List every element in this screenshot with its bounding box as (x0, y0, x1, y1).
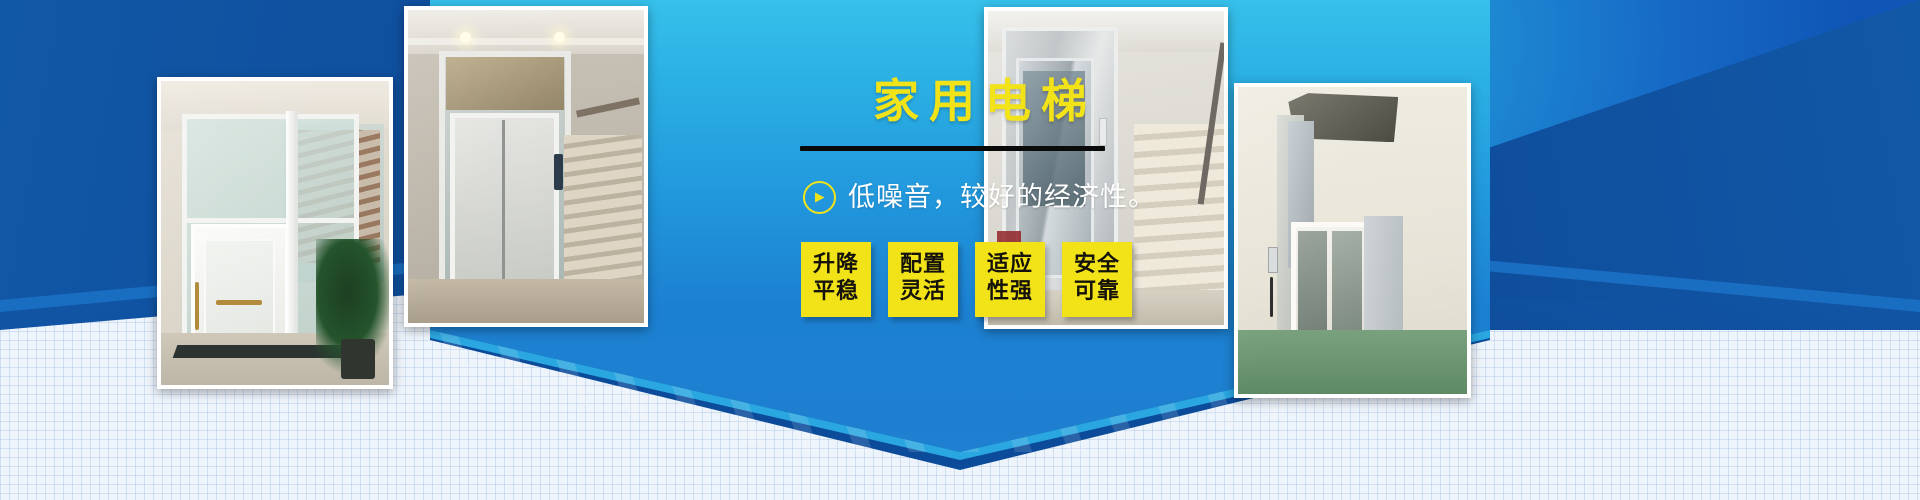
hoistway-mullion (182, 218, 360, 223)
control-cable (1270, 277, 1273, 317)
door-handle-vertical (195, 282, 199, 330)
door-handle-horizontal (216, 300, 262, 305)
subtitle-row: 低噪音，较好的经济性。 (803, 181, 1156, 214)
circle-play-arrow-icon (803, 181, 836, 214)
feature-tag-3[interactable]: 适应 性强 (975, 242, 1045, 317)
feature-tag-4-line2: 可靠 (1062, 278, 1132, 305)
wall-control-box (1268, 247, 1278, 273)
photo-4-scene (1238, 87, 1467, 394)
home-elevator-banner: 家用电梯 低噪音，较好的经济性。 升降 平稳 配置 灵活 适应 性强 (0, 0, 1920, 500)
feature-tag-3-line1: 适应 (975, 251, 1045, 278)
call-panel (554, 154, 563, 190)
shaft-upper-glazing (446, 57, 564, 110)
staircase (564, 135, 642, 285)
photo-4-image (1238, 87, 1467, 394)
photo-home-elevator-cabin-beside-staircase[interactable] (404, 6, 648, 327)
photo-2-scene (408, 10, 644, 323)
banner-content: 家用电梯 低噪音，较好的经济性。 升降 平稳 配置 灵活 适应 性强 (795, 78, 1215, 317)
photo-1-scene (161, 81, 389, 385)
corner-post (286, 111, 298, 369)
photo-home-elevator-installation[interactable] (1234, 83, 1471, 398)
photo-2-image (408, 10, 644, 323)
plant-pot (341, 339, 375, 379)
feature-tag-2-line1: 配置 (888, 251, 958, 278)
title-divider (800, 146, 1105, 151)
feature-tag-list: 升降 平稳 配置 灵活 适应 性强 安全 可靠 (801, 242, 1132, 317)
cabin-door-gap (502, 120, 505, 283)
feature-tag-4[interactable]: 安全 可靠 (1062, 242, 1132, 317)
subtitle-text: 低噪音，较好的经济性。 (848, 184, 1156, 211)
ceiling-downlight (460, 32, 471, 43)
feature-tag-1[interactable]: 升降 平稳 (801, 242, 871, 317)
feature-tag-1-line1: 升降 (801, 251, 871, 278)
green-painted-floor (1238, 330, 1467, 394)
photo-home-elevator-glass-hoistway[interactable] (157, 77, 393, 389)
feature-tag-3-line2: 性强 (975, 278, 1045, 305)
ceiling-cove-moulding (408, 38, 644, 45)
feature-tag-2-line2: 灵活 (888, 278, 958, 305)
ceiling (408, 10, 644, 54)
stone-floor (408, 279, 644, 323)
feature-tag-2[interactable]: 配置 灵活 (888, 242, 958, 317)
feature-tag-4-line1: 安全 (1062, 251, 1132, 278)
page-title: 家用电梯 (873, 78, 1097, 124)
feature-tag-1-line2: 平稳 (801, 278, 871, 305)
photo-1-image (161, 81, 389, 385)
